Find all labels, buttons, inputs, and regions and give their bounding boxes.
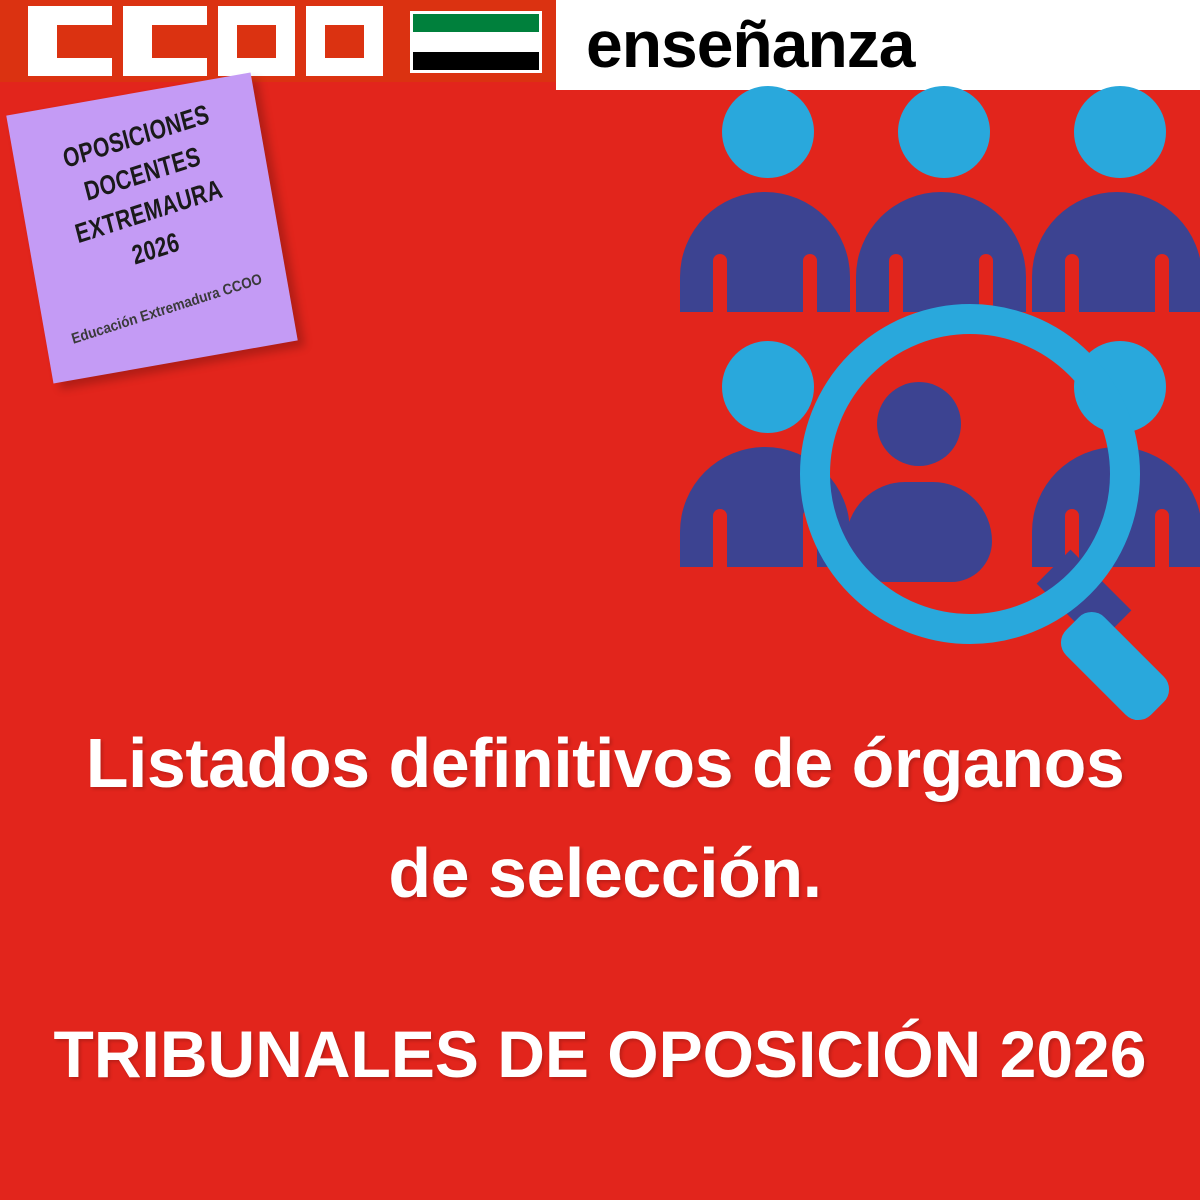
section-label: enseñanza bbox=[586, 8, 914, 80]
page-subtitle: TRIBUNALES DE OPOSICIÓN 2026 bbox=[0, 1014, 1200, 1094]
person-head-icon bbox=[722, 341, 814, 433]
person-back-left bbox=[680, 82, 850, 312]
person-arm-notch-right bbox=[803, 254, 817, 312]
person-arm-notch-left bbox=[713, 254, 727, 312]
ccoo-logo[interactable] bbox=[28, 6, 398, 76]
person-arm-notch-right bbox=[1155, 509, 1169, 567]
magnifier-ring-icon bbox=[800, 304, 1140, 644]
ccoo-letter-c-1 bbox=[28, 6, 112, 76]
flag-stripe-black bbox=[413, 52, 539, 70]
extremadura-flag-icon bbox=[410, 11, 542, 73]
person-head-icon bbox=[1074, 86, 1166, 178]
person-arm-notch-left bbox=[889, 254, 903, 312]
person-arm-notch-right bbox=[979, 254, 993, 312]
poster-canvas: enseñanza OPOSICIONES DOCENTES EXTREMAUR… bbox=[0, 0, 1200, 1200]
person-body-icon bbox=[856, 192, 1026, 312]
person-arm-notch-left bbox=[1065, 254, 1079, 312]
flag-stripe-white bbox=[413, 33, 539, 51]
sticky-note: OPOSICIONES DOCENTES EXTREMAURA 2026 Edu… bbox=[6, 73, 297, 384]
header-bar: enseñanza bbox=[0, 0, 1200, 90]
people-search-illustration bbox=[660, 82, 1200, 682]
page-title: Listados definitivos de órganos de selec… bbox=[40, 708, 1170, 928]
ccoo-letter-o-1 bbox=[218, 6, 295, 76]
person-arm-notch-right bbox=[1155, 254, 1169, 312]
ccoo-letter-o-2 bbox=[306, 6, 383, 76]
person-arm-notch-left bbox=[713, 509, 727, 567]
ccoo-letter-c-2 bbox=[123, 6, 207, 76]
person-body-icon bbox=[1032, 192, 1200, 312]
person-head-icon bbox=[722, 86, 814, 178]
sticky-note-footer: Educación Extremadura CCOO bbox=[69, 271, 263, 348]
person-back-right bbox=[1032, 82, 1200, 312]
person-head-icon bbox=[898, 86, 990, 178]
person-back-center bbox=[856, 82, 1026, 312]
person-body-icon bbox=[680, 192, 850, 312]
flag-stripe-green bbox=[413, 14, 539, 32]
